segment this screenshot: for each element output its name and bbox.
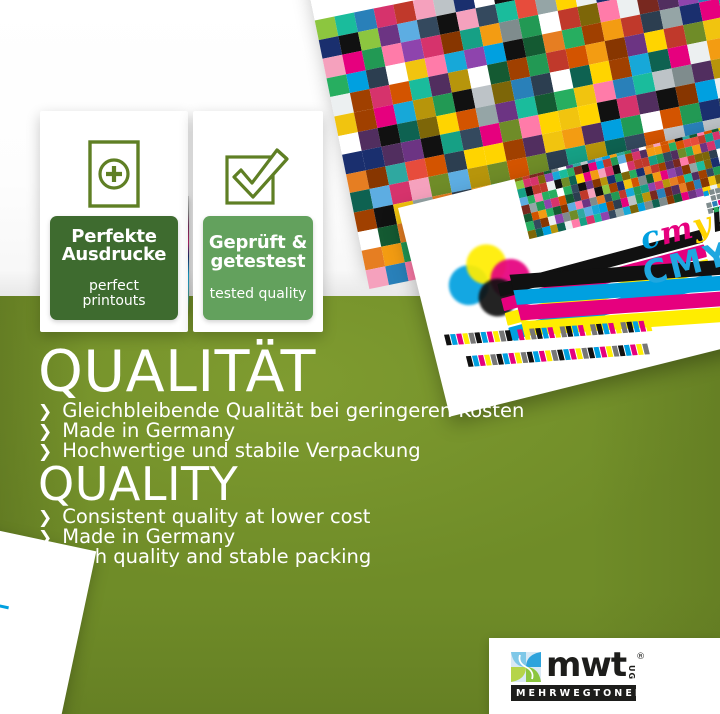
bullet-text: Made in Germany [62, 421, 235, 441]
bullet-text: Consistent quality at lower cost [62, 507, 370, 527]
promo-banner: cmyk CMYK Perfekte [0, 0, 720, 714]
bullet-item: ❯Gleichbleibende Qualität bei geringeren… [38, 401, 598, 421]
sheet-line-cyan [0, 598, 9, 609]
bullet-text: Gleichbleibende Qualität bei geringeren … [62, 401, 524, 421]
logo-subtitle: MEHRWEGTONER [511, 685, 636, 701]
logo-wordmark: mwt [546, 652, 626, 679]
chevron-right-icon: ❯ [38, 424, 52, 441]
bullet-item: ❯Made in Germany [38, 527, 598, 547]
brand-logo: mwt UG ® MEHRWEGTONER [489, 638, 720, 714]
headline-en: QUALITY [38, 461, 598, 507]
checkbox-check-icon [193, 131, 323, 217]
bullet-item: ❯Consistent quality at lower cost [38, 507, 598, 527]
bullet-text: High quality and stable packing [62, 547, 371, 567]
mwt-petal-mark [511, 652, 541, 682]
chevron-right-icon: ❯ [38, 530, 52, 547]
card1-subtitle-line2: printouts [82, 293, 145, 309]
bullet-list-de: ❯Gleichbleibende Qualität bei geringeren… [38, 401, 598, 461]
copy-block: QUALITÄT ❯Gleichbleibende Qualität bei g… [38, 344, 598, 567]
headline-de: QUALITÄT [38, 344, 598, 401]
chevron-right-icon: ❯ [38, 550, 52, 567]
card1-title-line2: Ausdrucke [62, 244, 167, 265]
feature-card-tested-quality: Geprüft & getestest tested quality [193, 111, 323, 332]
card1-subtitle-line1: perfect [89, 278, 139, 294]
chevron-right-icon: ❯ [38, 404, 52, 421]
card-badge: Perfekte Ausdrucke perfect printouts [50, 216, 178, 320]
bullet-list-en: ❯Consistent quality at lower cost❯Made i… [38, 507, 598, 567]
card2-subtitle-line1: tested quality [210, 286, 307, 302]
bullet-item: ❯High quality and stable packing [38, 547, 598, 567]
card2-title-line2: getestest [211, 251, 306, 272]
bullet-text: Made in Germany [62, 527, 235, 547]
chevron-right-icon: ❯ [38, 510, 52, 527]
bullet-item: ❯Made in Germany [38, 421, 598, 441]
document-plus-icon [40, 131, 188, 217]
card-badge: Geprüft & getestest tested quality [203, 216, 313, 320]
logo-legal-form: UG [627, 665, 635, 680]
registered-trademark-icon: ® [636, 652, 645, 662]
feature-card-perfect-printouts: Perfekte Ausdrucke perfect printouts [40, 111, 188, 332]
